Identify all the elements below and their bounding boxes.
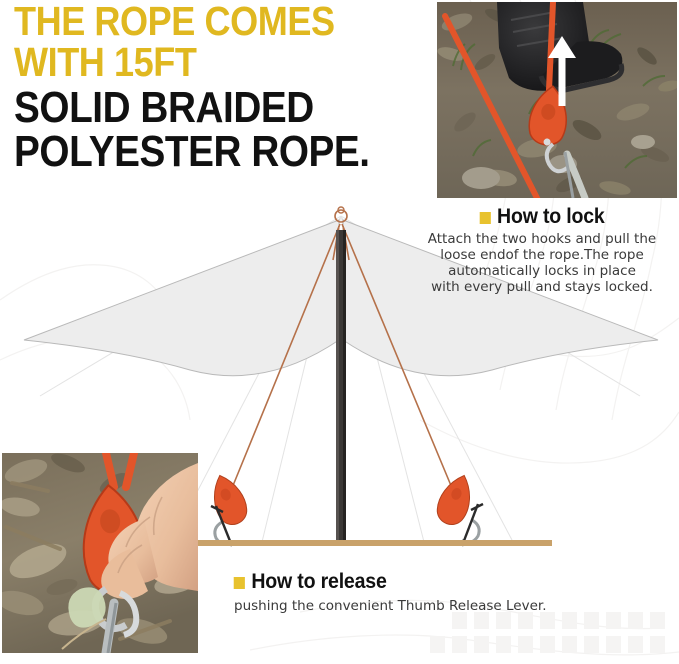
photo-how-to-lock <box>437 2 677 198</box>
tensioner-left <box>206 470 252 528</box>
how-to-release-title: How to release <box>251 570 386 594</box>
tarp-left-wing <box>24 220 339 376</box>
how-to-release-heading: How to release <box>221 570 612 594</box>
headline-block: THE ROPE COMES WITH 15FT SOLID BRAIDED P… <box>14 2 434 174</box>
how-to-lock-body-line: automatically locks in place <box>405 264 679 280</box>
how-to-lock-heading: How to lock <box>415 205 670 229</box>
photo-how-to-release <box>2 453 198 653</box>
headline-line-1: THE ROPE COMES <box>14 2 384 42</box>
how-to-release-body-line: pushing the convenient Thumb Release Lev… <box>234 599 626 615</box>
infographic-page: THE ROPE COMES WITH 15FT SOLID BRAIDED P… <box>0 0 679 664</box>
how-to-lock-body-line: Attach the two hooks and pull the <box>405 232 679 248</box>
headline-line-4: POLYESTER ROPE. <box>14 131 384 174</box>
headline-line-2: WITH 15FT <box>14 43 384 83</box>
how-to-lock-title: How to lock <box>497 205 605 229</box>
section-how-to-release: How to release pushing the convenient Th… <box>206 570 626 615</box>
section-how-to-lock: How to lock Attach the two hooks and pul… <box>405 205 679 296</box>
how-to-release-body: pushing the convenient Thumb Release Lev… <box>206 599 626 615</box>
center-pole <box>336 230 346 542</box>
how-to-lock-body: Attach the two hooks and pull the loose … <box>405 232 679 296</box>
how-to-lock-body-line: loose endof the rope.The rope <box>405 248 679 264</box>
how-to-lock-body-line: with every pull and stays locked. <box>405 280 679 296</box>
bullet-square-icon <box>234 577 245 589</box>
headline-line-3: SOLID BRAIDED <box>14 87 384 130</box>
bullet-square-icon <box>479 212 490 224</box>
ground-line <box>196 540 552 546</box>
